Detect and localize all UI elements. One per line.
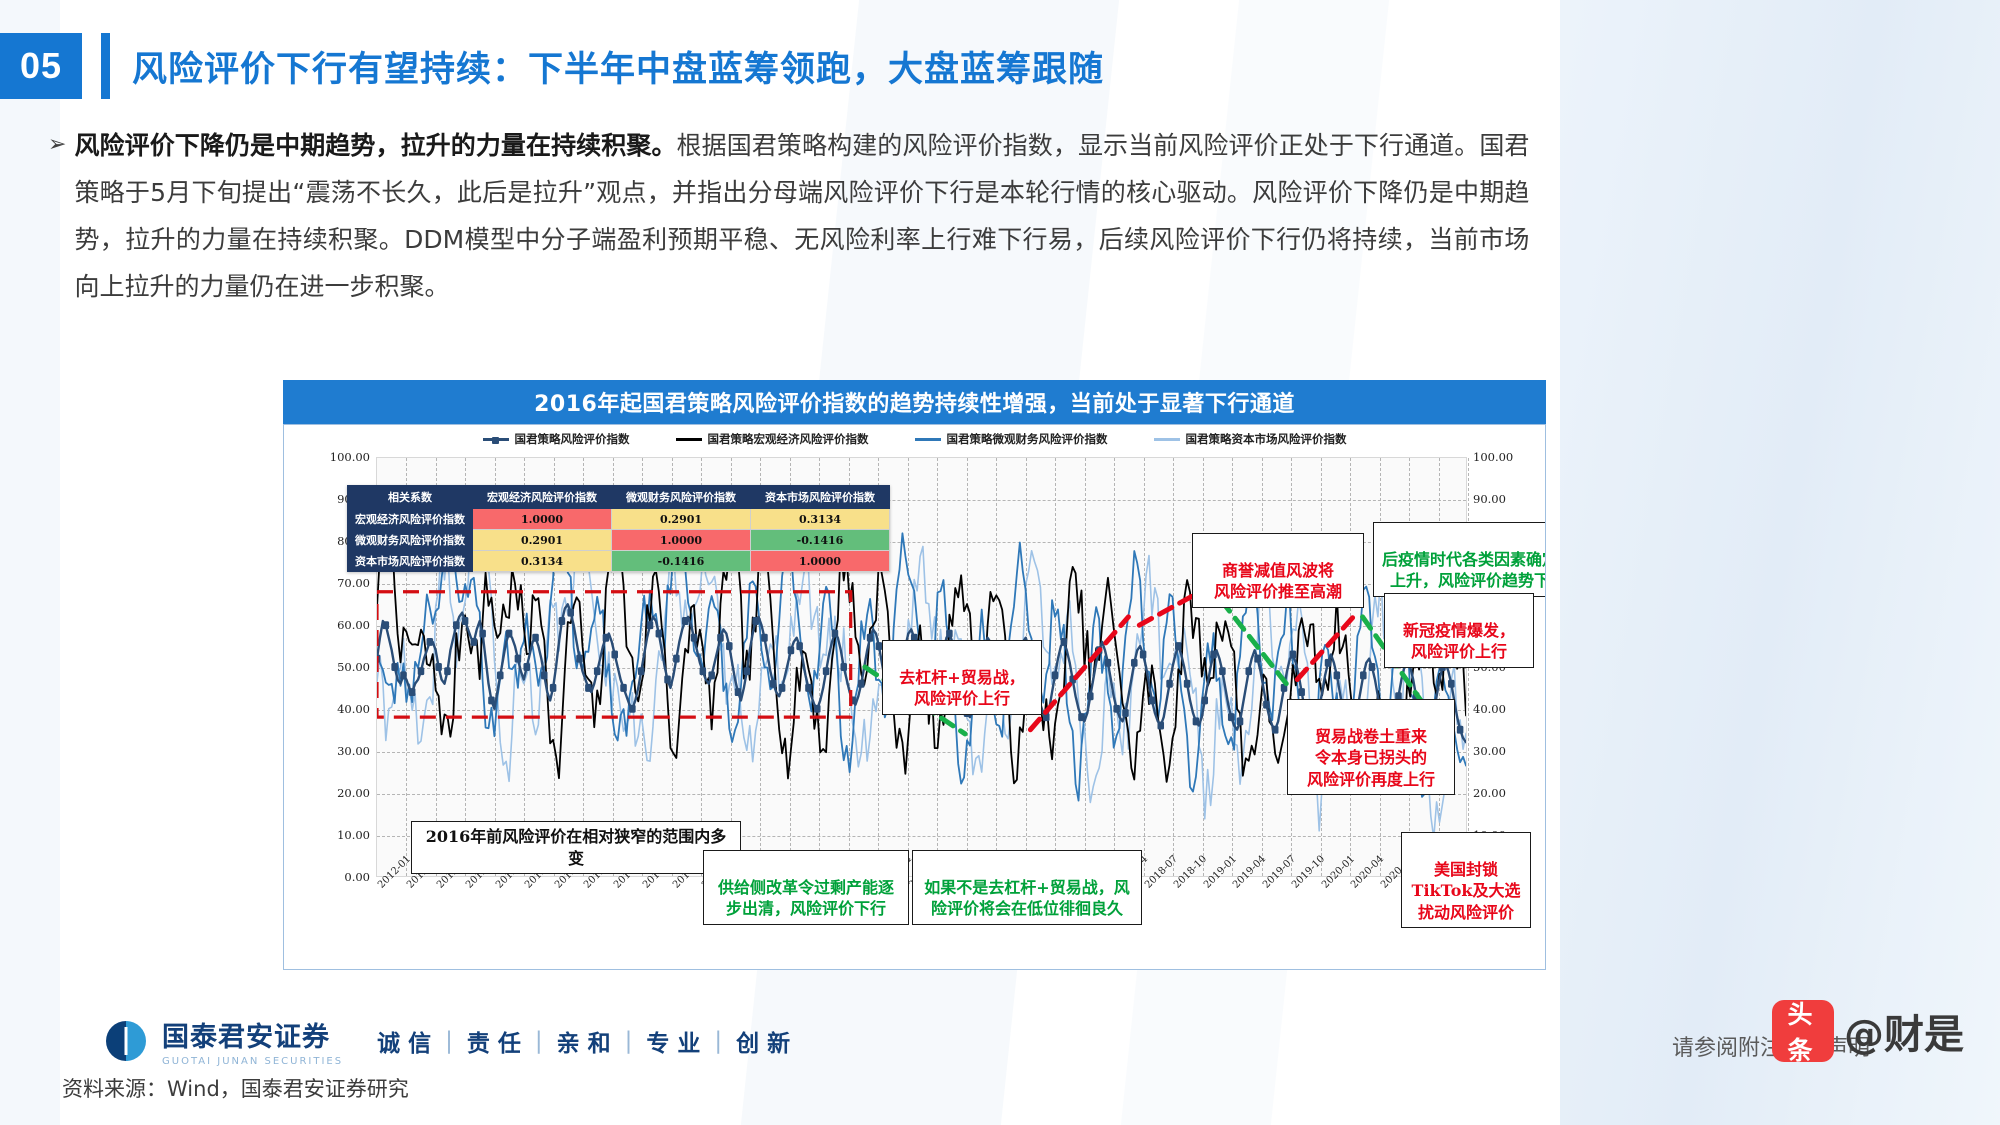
annotation-post-epidemic-text: 后疫情时代各类因素确定性 上升，风险评价趋势下行 [1382, 550, 1546, 591]
corr-cell-0-0: 1.0000 [473, 509, 612, 530]
legend-item-2: 国君策略微观财务风险评价指数 [915, 431, 1108, 447]
legend-label-1: 国君策略宏观经济风险评价指数 [708, 431, 869, 447]
annotation-pre2016-text: 2016年前风险评价在相对狭窄的范围内多变 [426, 827, 727, 868]
legend-swatch-2 [915, 438, 941, 441]
annotation-covid-text: 新冠疫情爆发， 风险评价上行 [1403, 621, 1515, 662]
section-number-badge: 05 [0, 33, 82, 99]
y-tick-left-9: 10.00 [318, 828, 370, 842]
annotation-supply-side: 供给侧改革令过剩产能逐 步出清，风险评价下行 [703, 850, 909, 925]
header-accent-bar [101, 33, 110, 99]
page-title: 风险评价下行有望持续：下半年中盘蓝筹领跑，大盘蓝筹跟随 [132, 41, 1104, 92]
corr-cell-2-2: 1.0000 [751, 551, 890, 572]
watermark-text: @财是 [1844, 1002, 1964, 1060]
annotation-pre2016: 2016年前风险评价在相对狭窄的范围内多变 [411, 821, 741, 874]
corr-cell-0-2: 0.3134 [751, 509, 890, 530]
body-paragraph-block: ➢ 风险评价下降仍是中期趋势，拉升的力量在持续积聚。根据国君策略构建的风险评价指… [48, 122, 1538, 310]
gtja-logo-icon [106, 1021, 146, 1061]
corr-cell-1-2: -0.1416 [751, 530, 890, 551]
chart-card: 2016年起国君策略风险评价指数的趋势持续性增强，当前处于显著下行通道 国君策略… [283, 380, 1546, 970]
chart-title-banner: 2016年起国君策略风险评价指数的趋势持续性增强，当前处于显著下行通道 [283, 380, 1546, 424]
corr-row-header-2: 资本市场风险评价指数 [348, 551, 473, 572]
y-tick-left-0: 100.00 [318, 450, 370, 464]
legend-swatch-1 [676, 438, 702, 441]
bullet-icon: ➢ [48, 122, 66, 310]
background-right-gradient [1560, 0, 2000, 1125]
annotation-tiktok: 美国封锁 TikTok及大选 扰动风险评价 [1401, 832, 1531, 928]
annotation-deleverage: 去杠杆+贸易战， 风险评价上行 [882, 640, 1042, 715]
chart-body: 国君策略风险评价指数国君策略宏观经济风险评价指数国君策略微观财务风险评价指数国君… [283, 424, 1546, 970]
annotation-post-epidemic: 后疫情时代各类因素确定性 上升，风险评价趋势下行 [1373, 522, 1546, 597]
annotation-tradewar-return: 贸易战卷土重来 令本身已拐头的 风险评价再度上行 [1287, 699, 1455, 795]
y-tick-left-6: 40.00 [318, 702, 370, 716]
company-name: 国泰君安证券 [162, 1015, 343, 1054]
correlation-table: 相关系数宏观经济风险评价指数微观财务风险评价指数资本市场风险评价指数宏观经济风险… [347, 485, 890, 572]
y-tick-left-3: 70.00 [318, 576, 370, 590]
legend-item-3: 国君策略资本市场风险评价指数 [1154, 431, 1347, 447]
y-tick-right-8: 20.00 [1473, 786, 1527, 800]
annotation-deleverage-text: 去杠杆+贸易战， 风险评价上行 [899, 668, 1024, 709]
corr-row-header-0: 宏观经济风险评价指数 [348, 509, 473, 530]
y-tick-left-7: 30.00 [318, 744, 370, 758]
paragraph-lead: 风险评价下降仍是中期趋势，拉升的力量在持续积聚。 [74, 131, 676, 160]
annotation-counterfactual: 如果不是去杠杆+贸易战，风 险评价将会在低位徘徊良久 [912, 850, 1142, 925]
annotation-goodwill: 商誉减值风波将 风险评价推至高潮 [1192, 533, 1364, 608]
y-tick-right-0: 100.00 [1473, 450, 1527, 464]
annotation-supply-side-text: 供给侧改革令过剩产能逐 步出清，风险评价下行 [718, 878, 894, 919]
slogan-word-0: 诚 信 [377, 1024, 431, 1058]
annotation-counterfactual-text: 如果不是去杠杆+贸易战，风 险评价将会在低位徘徊良久 [924, 878, 1129, 919]
slogan-separator-0: | [445, 1028, 453, 1054]
watermark: 头条 @财是 [1772, 1000, 1964, 1062]
slogan-separator-2: | [625, 1028, 633, 1054]
y-tick-left-10: 0.00 [318, 870, 370, 884]
slogan-separator-1: | [535, 1028, 543, 1054]
legend-item-0: 国君策略风险评价指数 [483, 431, 630, 447]
annotation-tradewar-return-text: 贸易战卷土重来 令本身已拐头的 风险评价再度上行 [1307, 727, 1435, 789]
y-tick-right-1: 90.00 [1473, 492, 1527, 506]
corr-row: 微观财务风险评价指数0.29011.0000-0.1416 [348, 530, 890, 551]
chart-legend: 国君策略风险评价指数国君策略宏观经济风险评价指数国君策略微观财务风险评价指数国君… [284, 431, 1545, 447]
slogan-separator-3: | [714, 1028, 722, 1054]
source-note: 资料来源：Wind，国泰君安证券研究 [62, 1073, 409, 1103]
corr-row: 资本市场风险评价指数0.3134-0.14161.0000 [348, 551, 890, 572]
y-tick-left-5: 50.00 [318, 660, 370, 674]
legend-label-0: 国君策略风险评价指数 [515, 431, 630, 447]
toutiao-badge-text: 头条 [1788, 995, 1819, 1067]
slogan-word-3: 专 业 [646, 1024, 700, 1058]
corr-row-header-1: 微观财务风险评价指数 [348, 530, 473, 551]
slogan-word-1: 责 任 [467, 1024, 521, 1058]
corr-col-header-2: 资本市场风险评价指数 [751, 486, 890, 509]
corr-cell-0-1: 0.2901 [612, 509, 751, 530]
slogan-row: 诚 信|责 任|亲 和|专 业|创 新 [377, 1024, 790, 1058]
y-tick-right-6: 40.00 [1473, 702, 1527, 716]
corr-cell-2-0: 0.3134 [473, 551, 612, 572]
corr-cell-1-1: 1.0000 [612, 530, 751, 551]
legend-swatch-3 [1154, 438, 1180, 441]
corr-cell-1-0: 0.2901 [473, 530, 612, 551]
company-name-en: GUOTAI JUNAN SECURITIES [162, 1056, 343, 1067]
legend-swatch-0 [483, 438, 509, 441]
legend-label-2: 国君策略微观财务风险评价指数 [947, 431, 1108, 447]
corr-col-header-1: 微观财务风险评价指数 [612, 486, 751, 509]
y-tick-right-7: 30.00 [1473, 744, 1527, 758]
corr-corner: 相关系数 [348, 486, 473, 509]
footer-logo-block: 国泰君安证券 GUOTAI JUNAN SECURITIES 诚 信|责 任|亲… [106, 1015, 790, 1067]
slide-header: 05 风险评价下行有望持续：下半年中盘蓝筹领跑，大盘蓝筹跟随 [0, 30, 1104, 102]
y-tick-left-4: 60.00 [318, 618, 370, 632]
annotation-tiktok-text: 美国封锁 TikTok及大选 扰动风险评价 [1412, 860, 1521, 922]
corr-col-header-0: 宏观经济风险评价指数 [473, 486, 612, 509]
corr-cell-2-1: -0.1416 [612, 551, 751, 572]
body-paragraph: 风险评价下降仍是中期趋势，拉升的力量在持续积聚。根据国君策略构建的风险评价指数，… [74, 122, 1529, 310]
toutiao-badge-icon: 头条 [1772, 1000, 1834, 1062]
legend-label-3: 国君策略资本市场风险评价指数 [1186, 431, 1347, 447]
y-tick-left-8: 20.00 [318, 786, 370, 800]
slogan-word-4: 创 新 [736, 1024, 790, 1058]
annotation-goodwill-text: 商誉减值风波将 风险评价推至高潮 [1214, 561, 1342, 602]
slogan-word-2: 亲 和 [557, 1024, 611, 1058]
legend-item-1: 国君策略宏观经济风险评价指数 [676, 431, 869, 447]
corr-row: 宏观经济风险评价指数1.00000.29010.3134 [348, 509, 890, 530]
annotation-covid: 新冠疫情爆发， 风险评价上行 [1384, 593, 1534, 668]
